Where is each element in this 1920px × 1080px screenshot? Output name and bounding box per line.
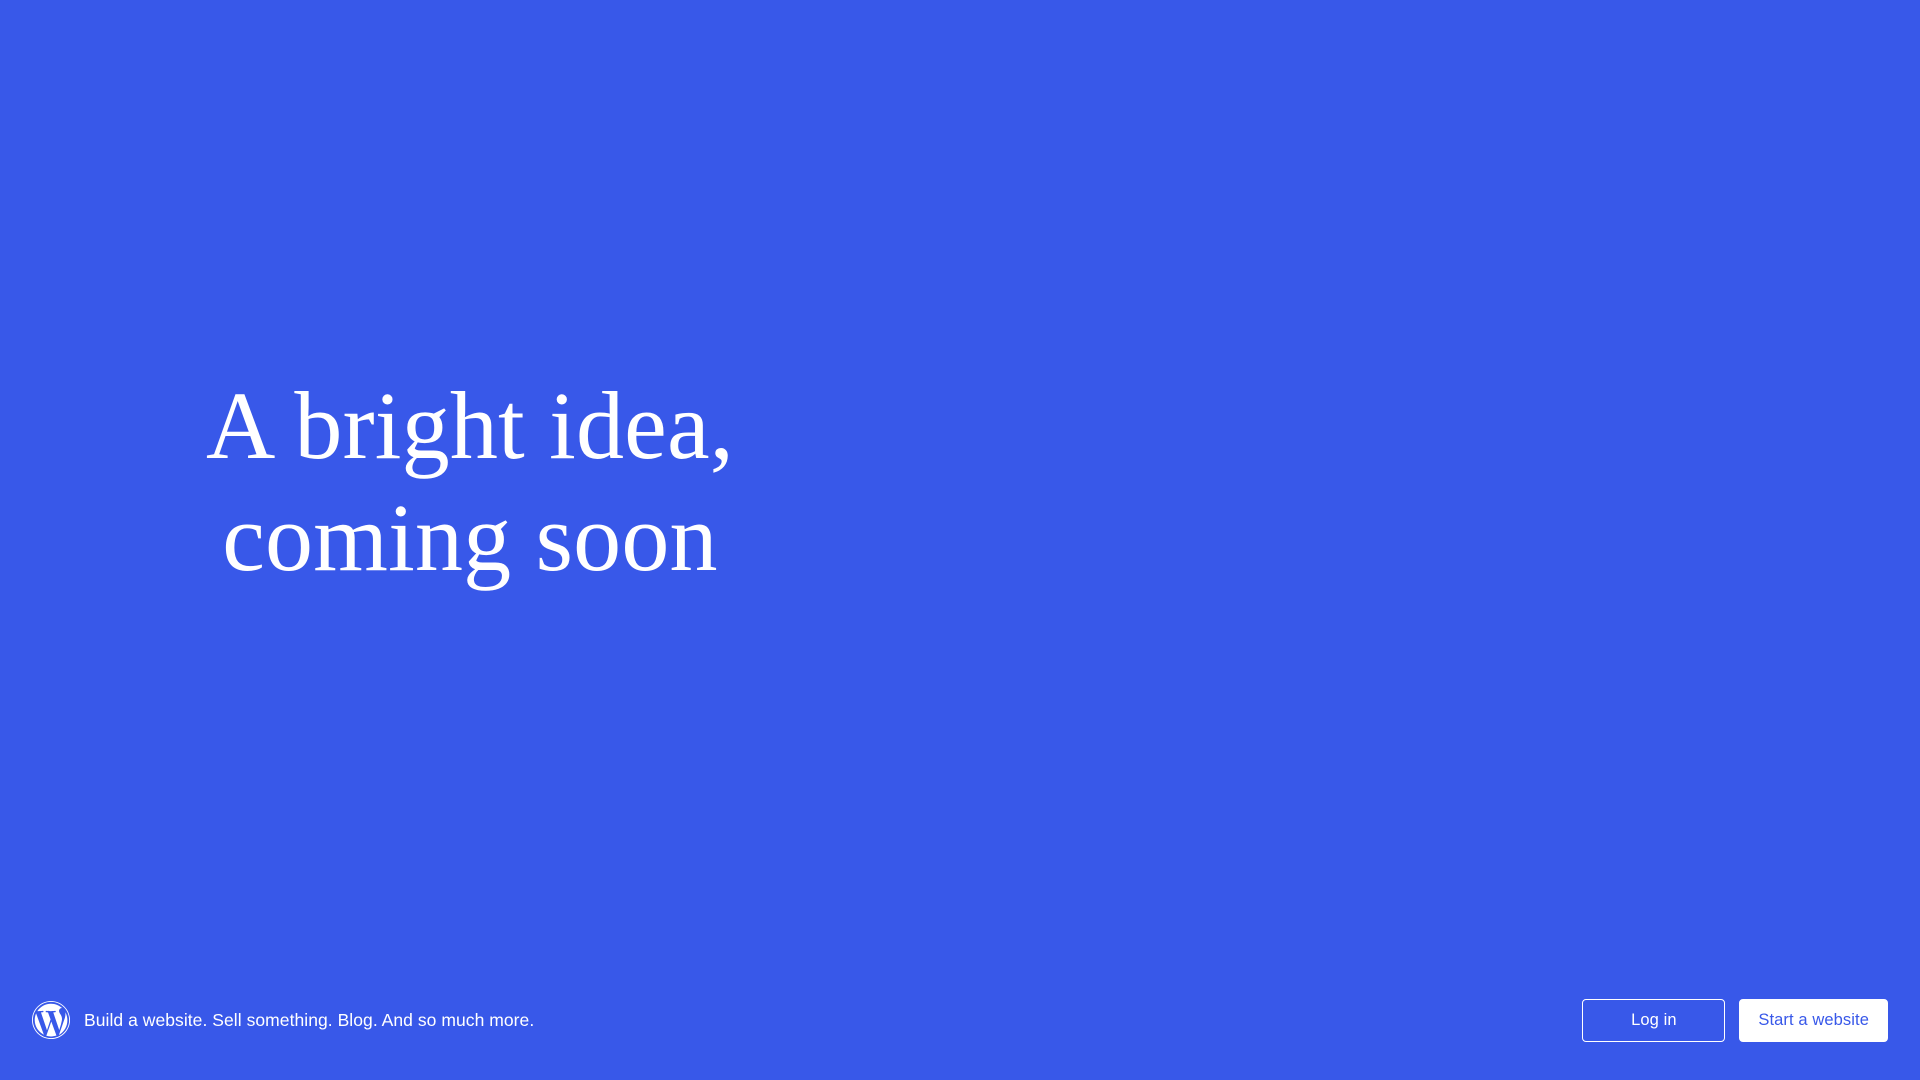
- login-button[interactable]: Log in: [1582, 999, 1725, 1042]
- footer-actions: Log in Start a website: [1582, 999, 1888, 1042]
- footer-brand: Build a website. Sell something. Blog. A…: [32, 1001, 534, 1039]
- start-a-website-button[interactable]: Start a website: [1739, 999, 1888, 1042]
- page-title: A bright idea, coming soon: [0, 370, 940, 595]
- footer-bar: Build a website. Sell something. Blog. A…: [0, 960, 1920, 1080]
- wordpress-logo-icon: [32, 1001, 70, 1039]
- footer-tagline: Build a website. Sell something. Blog. A…: [84, 1009, 534, 1032]
- hero-section: A bright idea, coming soon: [0, 0, 1920, 960]
- coming-soon-page: A bright idea, coming soon Build a websi…: [0, 0, 1920, 1080]
